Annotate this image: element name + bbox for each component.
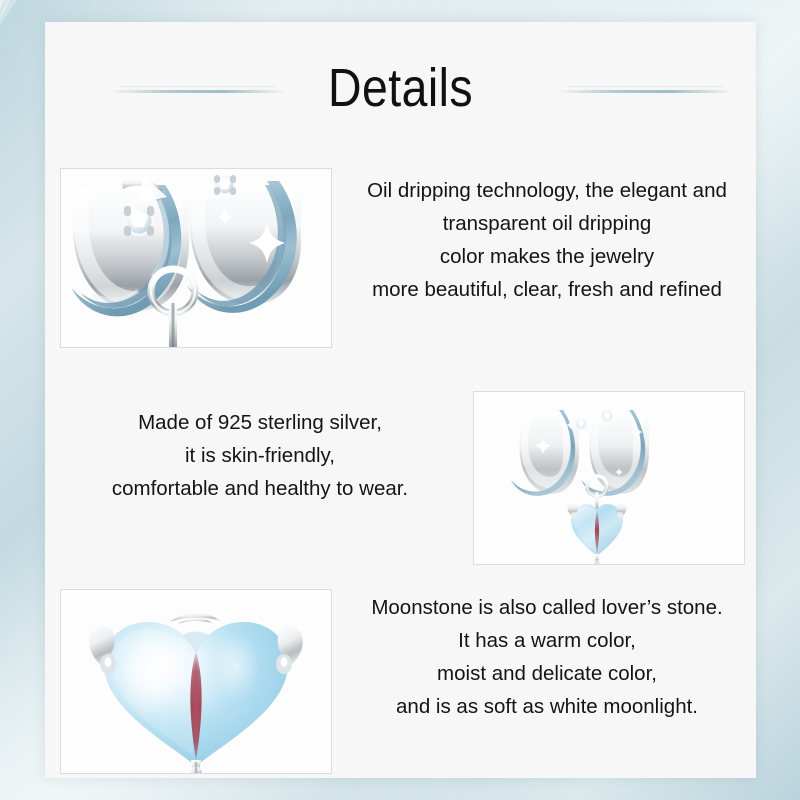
divider-right xyxy=(560,90,730,93)
detail-line: It has a warm color, xyxy=(338,624,756,657)
detail-row-2: Made of 925 sterling silver, it is skin-… xyxy=(45,382,756,557)
detail-line: more beautiful, clear, fresh and refined xyxy=(338,273,756,306)
detail-line: it is skin-friendly, xyxy=(55,439,465,472)
detail-line: moist and delicate color, xyxy=(338,657,756,690)
detail-line: Moonstone is also called lover’s stone. xyxy=(338,591,756,624)
content-card: Details xyxy=(45,22,756,778)
detail-line: and is as soft as white moonlight. xyxy=(338,690,756,723)
detail-line: Oil dripping technology, the elegant and xyxy=(338,174,756,207)
detail-line: comfortable and healthy to wear. xyxy=(55,472,465,505)
detail-line: color makes the jewelry xyxy=(338,240,756,273)
detail-text-3: Moonstone is also called lover’s stone. … xyxy=(338,591,756,723)
earring-closeup-photo xyxy=(60,168,332,348)
detail-row-3: Moonstone is also called lover’s stone. … xyxy=(45,567,756,782)
detail-text-2: Made of 925 sterling silver, it is skin-… xyxy=(55,406,465,505)
product-detail-banner: Details xyxy=(0,0,800,800)
detail-line: Made of 925 sterling silver, xyxy=(55,406,465,439)
earring-full-photo xyxy=(473,391,745,565)
header: Details xyxy=(45,56,756,128)
moonstone-heart-photo xyxy=(60,589,332,774)
page-title: Details xyxy=(95,56,706,120)
detail-line: transparent oil dripping xyxy=(338,207,756,240)
detail-text-1: Oil dripping technology, the elegant and… xyxy=(338,174,756,306)
detail-row-1: Oil dripping technology, the elegant and… xyxy=(45,168,756,368)
